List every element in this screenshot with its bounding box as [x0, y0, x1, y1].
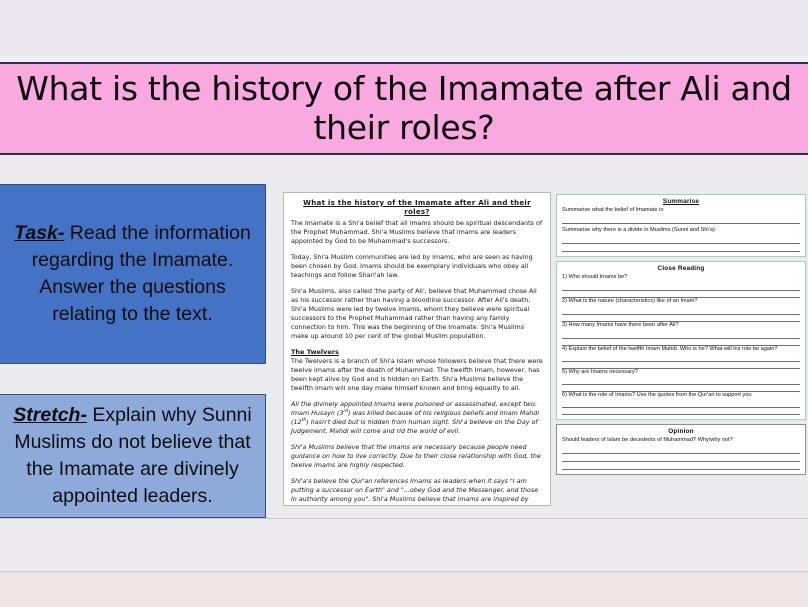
answer-line[interactable] [562, 244, 800, 252]
close-reading-heading: Close Reading [562, 265, 800, 272]
mid-background-band [0, 155, 808, 182]
bottom-background-band [0, 571, 808, 607]
document-paragraph: Today, Shi'a Muslim communities are led … [291, 253, 543, 280]
answer-line[interactable] [562, 283, 800, 291]
opinion-card: Opinion Should leaders of Islam be deced… [556, 424, 806, 475]
document-paragraph: Shi'a Muslims, also called 'the party of… [291, 287, 543, 341]
lower-background-band [0, 518, 808, 572]
task-instruction-box: Task- Read the information regarding the… [0, 184, 266, 364]
page-title: What is the history of the Imamate after… [8, 70, 800, 148]
close-reading-question: 2) What is the nature (characteristics) … [562, 298, 800, 305]
document-paragraph: Shi'a Muslims believe that the imams are… [291, 443, 543, 470]
document-title: What is the history of the Imamate after… [291, 198, 543, 216]
opinion-prompt: Should leaders of Islam be decedents of … [562, 437, 800, 444]
close-reading-question: 3) How many Imams have there been after … [562, 322, 800, 329]
close-reading-card: Close Reading 1) Who should Imams be? 2)… [556, 261, 806, 420]
document-subheading: The Twelvers [291, 348, 543, 356]
answer-line[interactable] [562, 315, 800, 322]
stretch-instruction-box: Stretch- Explain why Sunni Muslims do no… [0, 394, 266, 518]
close-reading-question: 5) Why are Imams necessary? [562, 369, 800, 376]
answer-line[interactable] [562, 462, 800, 470]
close-reading-question: 6) What is the role of Imams? Use the qu… [562, 392, 800, 399]
summarise-heading: Summarise [562, 198, 800, 205]
summarise-prompt: Summarise what the belief of Imamate is: [562, 207, 800, 214]
answer-line[interactable] [562, 362, 800, 369]
answer-line[interactable] [562, 331, 800, 339]
answer-line[interactable] [562, 291, 800, 298]
close-reading-question: 1) Who should Imams be? [562, 274, 800, 281]
title-banner: What is the history of the Imamate after… [0, 62, 808, 155]
document-paragraph: Shi'a's believe the Qur'an references Im… [291, 477, 543, 506]
answer-line[interactable] [562, 408, 800, 415]
answer-line[interactable] [562, 454, 800, 462]
task-lead-label: Task- [14, 222, 64, 244]
answer-line[interactable] [562, 446, 800, 454]
stretch-text: Stretch- Explain why Sunni Muslims do no… [10, 402, 255, 510]
opinion-heading: Opinion [562, 428, 800, 435]
document-paragraph: All the divinely appointed Imams were po… [291, 400, 543, 436]
task-body-text: Read the information regarding the Imama… [32, 222, 251, 325]
stretch-lead-label: Stretch- [13, 404, 87, 426]
top-background-band [0, 0, 808, 56]
answer-line[interactable] [562, 216, 800, 224]
answer-line[interactable] [562, 401, 800, 408]
close-reading-question: 4) Explain the belief of the twelfth Ima… [562, 346, 800, 353]
answer-line[interactable] [562, 236, 800, 244]
summarise-prompt: Summarise why there is a divide in Musli… [562, 227, 800, 234]
document-paragraph: The Imamate is a Shi'a belief that all i… [291, 219, 543, 246]
worksheet-column: Summarise Summarise what the belief of I… [556, 194, 806, 506]
answer-line[interactable] [562, 378, 800, 385]
information-sheet: What is the history of the Imamate after… [283, 192, 551, 506]
task-text: Task- Read the information regarding the… [10, 220, 255, 328]
summarise-card: Summarise Summarise what the belief of I… [556, 194, 806, 257]
document-paragraph: The Twelvers is a branch of Shi'a Islam … [291, 357, 543, 393]
answer-line[interactable] [562, 339, 800, 346]
answer-line[interactable] [562, 385, 800, 392]
answer-line[interactable] [562, 307, 800, 315]
answer-line[interactable] [562, 355, 800, 362]
